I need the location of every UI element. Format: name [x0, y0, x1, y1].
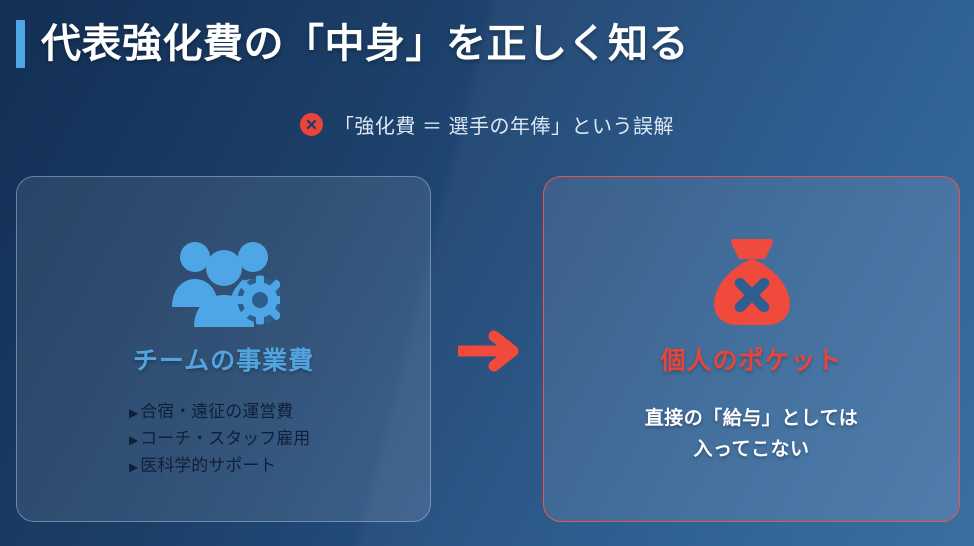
card-team-business-cost: チームの事業費 ▶ 合宿・遠征の運営費 ▶ コーチ・スタッフ雇用 ▶ 医科学的サ… — [16, 176, 431, 522]
title-accent-bar — [16, 20, 25, 68]
card-heading-team: チームの事業費 — [133, 341, 314, 377]
card-personal-pocket: 個人のポケット 直接の「給与」としては 入ってこない — [543, 176, 960, 522]
bullet-marker-icon: ▶ — [129, 454, 138, 480]
card-body-line-1: 直接の「給与」としては — [645, 403, 859, 434]
card-body-pocket: 直接の「給与」としては 入ってこない — [645, 403, 859, 465]
subtitle-text: 「強化費 ＝ 選手の年俸」という誤解 — [334, 110, 674, 139]
list-item: ▶ 合宿・遠征の運営費 — [129, 399, 430, 426]
bullet-marker-icon: ▶ — [129, 427, 138, 453]
circle-x-icon — [300, 113, 323, 136]
list-item-label: 合宿・遠征の運営費 — [140, 399, 293, 425]
list-item: ▶ コーチ・スタッフ雇用 — [129, 426, 430, 453]
arrow-right-icon — [458, 330, 520, 377]
people-gear-icon — [168, 233, 280, 329]
card-heading-pocket: 個人のポケット — [660, 341, 842, 377]
slide-canvas: 代表強化費の「中身」を正しく知る 「強化費 ＝ 選手の年俸」という誤解 — [0, 0, 974, 546]
card-body-line-2: 入ってこない — [645, 434, 859, 465]
page-title: 代表強化費の「中身」を正しく知る — [41, 24, 689, 64]
list-item-label: コーチ・スタッフ雇用 — [140, 426, 310, 452]
subtitle-row: 「強化費 ＝ 選手の年俸」という誤解 — [0, 110, 974, 139]
list-item: ▶ 医科学的サポート — [129, 453, 430, 480]
money-bag-x-icon — [704, 233, 800, 329]
bullet-marker-icon: ▶ — [129, 400, 138, 426]
bullet-list-team: ▶ 合宿・遠征の運営費 ▶ コーチ・スタッフ雇用 ▶ 医科学的サポート — [17, 399, 430, 480]
list-item-label: 医科学的サポート — [140, 453, 276, 479]
page-header: 代表強化費の「中身」を正しく知る — [16, 20, 689, 68]
